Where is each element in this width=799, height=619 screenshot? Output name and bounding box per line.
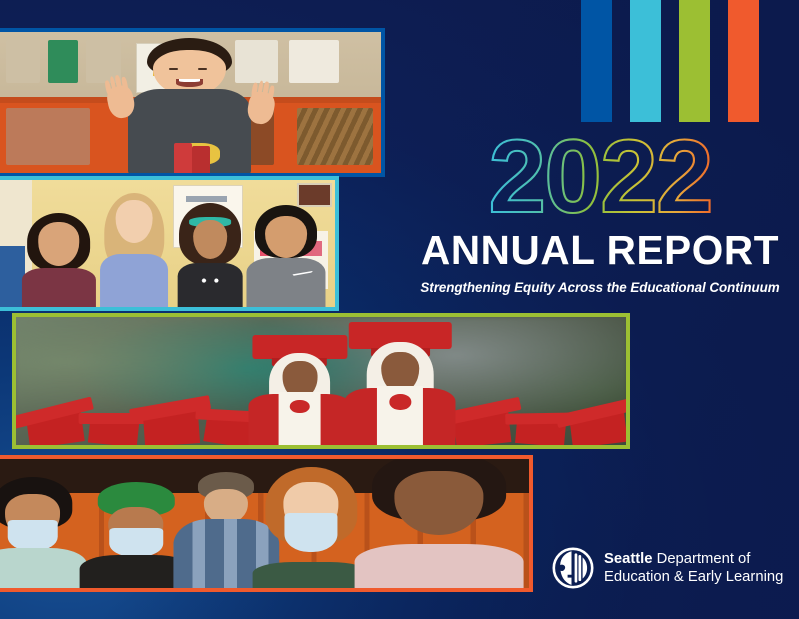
logo-line1-light: Department of xyxy=(653,551,751,567)
logo-line2: Education & Early Learning xyxy=(604,569,783,585)
photo-students-masked xyxy=(0,455,533,592)
photo-preschool-blocks xyxy=(0,28,385,177)
year-outline: 2022 xyxy=(420,136,780,228)
color-bar-group xyxy=(581,0,759,122)
color-bar-orange xyxy=(728,0,759,122)
report-tagline: Strengthening Equity Across the Educatio… xyxy=(420,280,780,295)
logo-line1-bold: Seattle xyxy=(604,551,653,567)
logo-wordmark: Seattle Department of Education & Early … xyxy=(604,550,783,586)
color-bar-green xyxy=(679,0,710,122)
annual-report-cover: 2022 ANNUAL REPORT Strengthening Equity … xyxy=(0,0,799,619)
color-bar-cyan xyxy=(630,0,661,122)
city-of-seattle-seal-icon xyxy=(552,547,594,589)
photo-preschool-group-image xyxy=(0,180,335,307)
photo-graduation xyxy=(12,313,630,449)
cover-headline: 2022 ANNUAL REPORT Strengthening Equity … xyxy=(420,136,780,295)
photo-graduation-image xyxy=(16,317,626,445)
year-text: 2022 xyxy=(488,119,711,235)
photo-preschool-group xyxy=(0,176,339,311)
seattle-del-logo: Seattle Department of Education & Early … xyxy=(552,547,783,589)
photo-students-masked-image xyxy=(0,459,529,588)
color-bar-blue xyxy=(581,0,612,122)
report-title: ANNUAL REPORT xyxy=(420,230,780,271)
photo-preschool-blocks-image xyxy=(0,32,381,173)
